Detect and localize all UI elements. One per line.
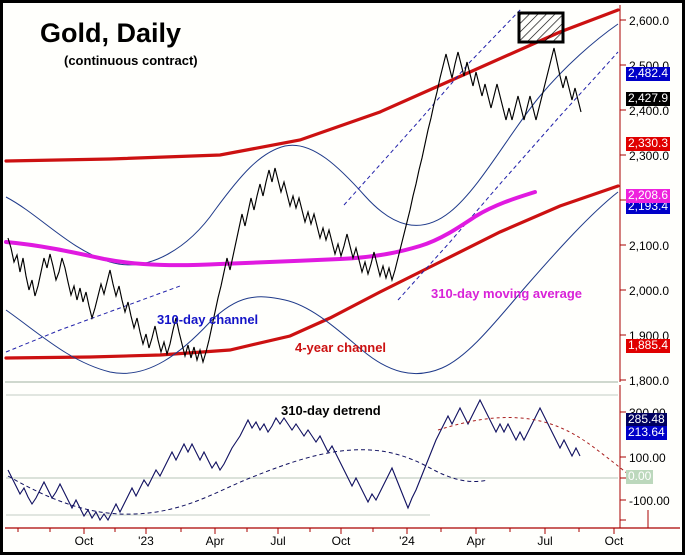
time-tick-label: Oct	[75, 534, 94, 548]
projection-target-box	[519, 13, 563, 42]
time-tick-label: '24	[399, 534, 415, 548]
detrend-badge-zero: 0.00	[626, 470, 653, 484]
price-tick-label: 2,600.0	[629, 14, 669, 28]
price-badge-last-price: 2,427.9	[626, 92, 670, 106]
page-subtitle: (continuous contract)	[64, 53, 198, 68]
detrend-badge-last: 213.64	[626, 426, 667, 440]
price-badge-channel-lower: 1,885.4	[626, 339, 670, 353]
annotation-310-day-detrend: 310-day detrend	[281, 403, 381, 418]
page-title: Gold, Daily	[40, 18, 181, 49]
price-tick-label: 1,800.0	[629, 374, 669, 388]
time-tick-label: Apr	[467, 534, 486, 548]
annotation-310-day-moving-average: 310-day moving average	[431, 286, 582, 301]
chart-background	[3, 3, 682, 552]
time-tick-label: Oct	[332, 534, 351, 548]
annotation-4-year-channel: 4-year channel	[295, 340, 386, 355]
price-badge-channel-upper: 2,330.3	[626, 137, 670, 151]
time-tick-label: Oct	[605, 534, 624, 548]
time-tick-label: '23	[138, 534, 154, 548]
detrend-tick-label: 100.00	[629, 451, 666, 465]
gold-daily-chart-canvas	[0, 0, 685, 555]
chart-window: Gold, Daily (continuous contract) 310-da…	[0, 0, 685, 555]
price-tick-label: 2,300.0	[629, 149, 669, 163]
time-tick-label: Apr	[206, 534, 225, 548]
detrend-tick-label: -100.00	[629, 494, 670, 508]
price-badge-moving-average: 2,208.6	[626, 189, 670, 203]
price-tick-label: 2,100.0	[629, 239, 669, 253]
time-tick-label: Jul	[270, 534, 285, 548]
annotation-310-day-channel: 310-day channel	[157, 312, 258, 327]
price-tick-label: 2,000.0	[629, 284, 669, 298]
time-tick-label: Jul	[537, 534, 552, 548]
price-badge-upper-trendline: 2,482.4	[626, 67, 670, 81]
price-tick-label: 2,400.0	[629, 104, 669, 118]
